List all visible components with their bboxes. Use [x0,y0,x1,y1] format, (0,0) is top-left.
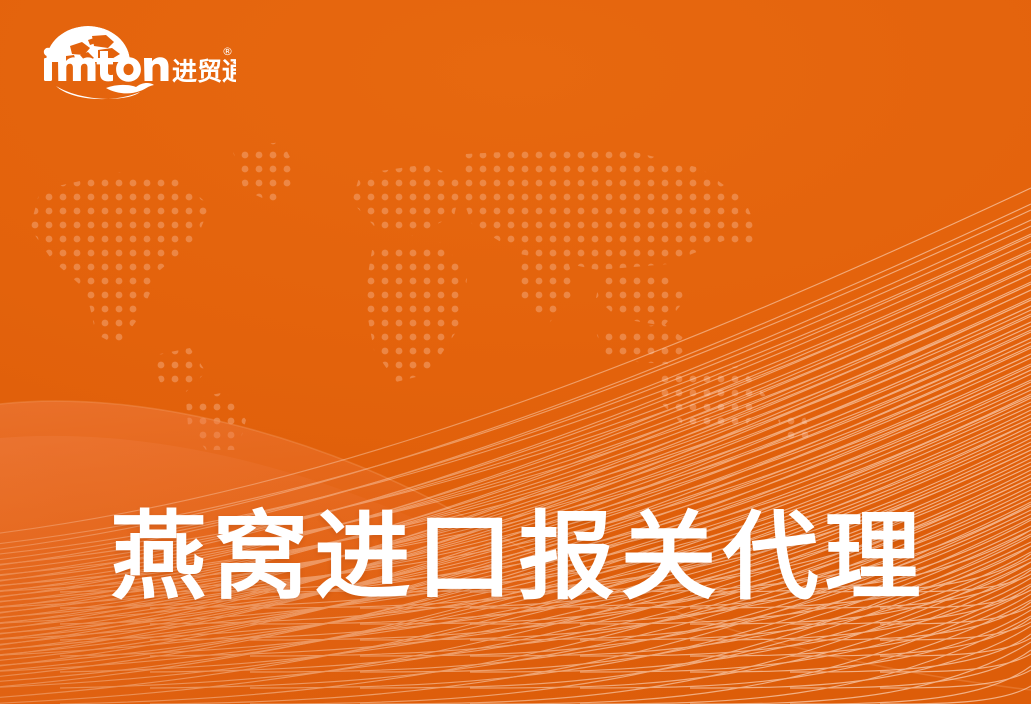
globe-icon [46,26,130,62]
swoosh-bird-icon [56,83,154,99]
page-title-line-1: 燕窝进口报关代理 [0,492,1031,624]
registered-mark-icon: ® [222,45,233,58]
brand-logo[interactable]: 进贸通 ® [36,22,236,104]
svg-text:进贸通: 进贸通 [172,57,236,86]
page-title: 燕窝进口报关代理 流程以及服务范围 [0,228,1031,704]
wordmark-chinese: 进贸通 [172,57,236,86]
svg-text:®: ® [222,45,233,58]
promo-banner: 进贸通 ® 燕窝进口报关代理 流程以及服务范围 [0,0,1031,704]
